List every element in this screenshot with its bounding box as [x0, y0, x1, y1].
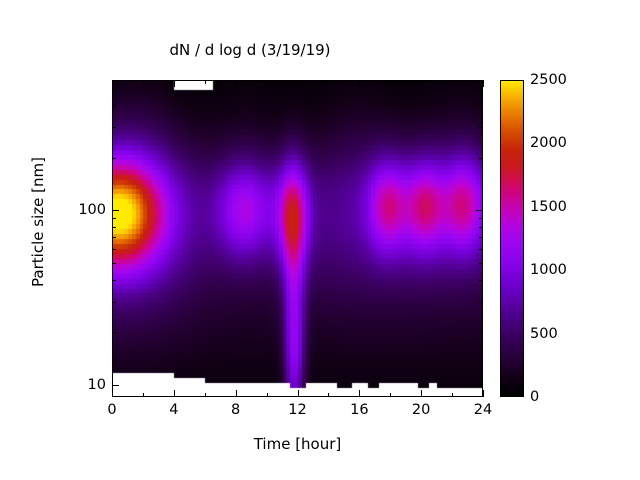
x-minor-tick-top [143, 80, 144, 84]
y-minor-tick-right [479, 332, 483, 333]
colorbar-tick-label: 0 [530, 389, 539, 405]
y-minor-tick [112, 332, 116, 333]
x-tick-label: 24 [474, 402, 492, 418]
y-minor-tick-right [479, 218, 483, 219]
colorbar-tick-label: 1000 [530, 262, 567, 278]
y-tick-label: 100 [78, 202, 106, 218]
x-major-tick-top [236, 80, 237, 87]
x-tick-label: 20 [412, 402, 430, 418]
x-minor-tick [205, 393, 206, 397]
y-minor-tick [112, 158, 116, 159]
y-axis-tick-labels: 10010 [40, 0, 106, 480]
x-minor-tick-top [390, 80, 391, 84]
x-tick-label: 8 [231, 402, 240, 418]
x-major-tick-top [112, 80, 113, 87]
x-tick-label: 0 [107, 402, 116, 418]
y-major-tick [112, 210, 119, 211]
y-minor-tick-right [479, 127, 483, 128]
x-minor-tick-top [205, 80, 206, 84]
y-minor-tick [112, 249, 116, 250]
y-minor-tick-right [479, 105, 483, 106]
y-minor-tick [112, 302, 116, 303]
x-major-tick [359, 390, 360, 397]
x-major-tick-top [359, 80, 360, 87]
y-minor-tick [112, 127, 116, 128]
y-minor-tick-right [479, 237, 483, 238]
y-minor-tick-right [479, 158, 483, 159]
x-tick-label: 16 [350, 402, 368, 418]
figure-root: dN / d log d (3/19/19) 04812162024 10010… [0, 0, 640, 480]
y-tick-label: 10 [88, 377, 106, 393]
heatmap-plot-area [112, 80, 483, 397]
x-major-tick-top [174, 80, 175, 87]
y-minor-tick [112, 237, 116, 238]
colorbar-tick-label: 2000 [530, 135, 567, 151]
x-minor-tick [328, 393, 329, 397]
y-minor-tick [112, 227, 116, 228]
y-minor-tick-right [479, 302, 483, 303]
x-major-tick-top [298, 80, 299, 87]
y-minor-tick [112, 218, 116, 219]
x-major-tick-top [483, 80, 484, 87]
x-axis-title: Time [hour] [112, 435, 483, 453]
x-major-tick-top [421, 80, 422, 87]
x-minor-tick [452, 393, 453, 397]
colorbar-tick-label: 2500 [530, 72, 567, 88]
x-major-tick [236, 390, 237, 397]
x-minor-tick [390, 393, 391, 397]
x-minor-tick [143, 393, 144, 397]
x-minor-tick-top [267, 80, 268, 84]
colorbar [500, 80, 524, 397]
x-major-tick [174, 390, 175, 397]
y-minor-tick-right [479, 263, 483, 264]
y-major-tick [112, 385, 119, 386]
colorbar-tick-label: 1500 [530, 199, 567, 215]
x-tick-label: 12 [288, 402, 306, 418]
y-minor-tick [112, 105, 116, 106]
x-major-tick [112, 390, 113, 397]
heatmap-canvas [112, 80, 483, 397]
x-minor-tick-top [328, 80, 329, 84]
y-minor-tick [112, 280, 116, 281]
colorbar-tick-label: 500 [530, 326, 558, 342]
y-major-tick-right [476, 210, 483, 211]
y-minor-tick [112, 89, 116, 90]
x-major-tick [421, 390, 422, 397]
y-minor-tick-right [479, 89, 483, 90]
x-minor-tick [267, 393, 268, 397]
y-minor-tick-right [479, 280, 483, 281]
x-major-tick [483, 390, 484, 397]
x-major-tick [298, 390, 299, 397]
y-minor-tick-right [479, 227, 483, 228]
y-minor-tick [112, 263, 116, 264]
colorbar-gradient [500, 80, 524, 397]
y-axis-title: Particle size [nm] [29, 102, 47, 342]
y-minor-tick-right [479, 249, 483, 250]
y-major-tick-right [476, 385, 483, 386]
x-tick-label: 4 [169, 402, 178, 418]
x-minor-tick-top [452, 80, 453, 84]
